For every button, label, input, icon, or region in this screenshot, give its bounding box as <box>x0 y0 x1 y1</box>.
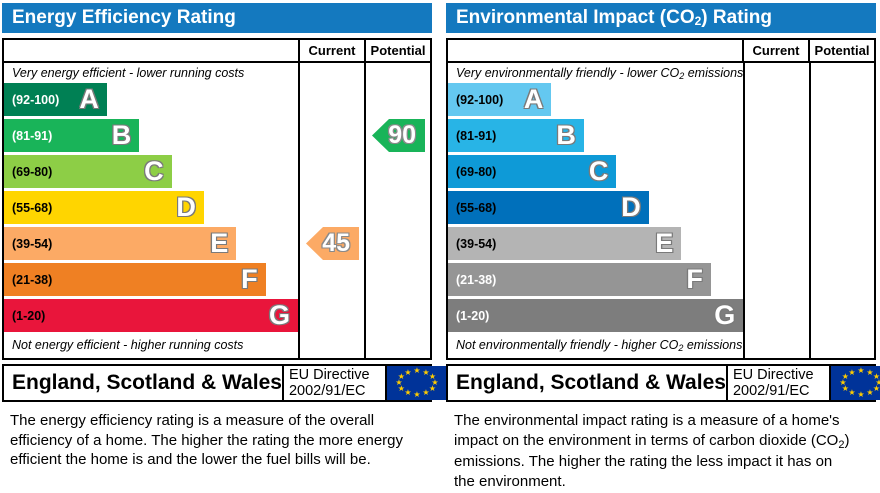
description-text: The energy efficiency rating is a measur… <box>10 412 403 468</box>
band-range-label: (1-20) <box>448 309 489 323</box>
band-letter-f: F <box>241 266 258 293</box>
eu-flag-star: ★ <box>404 369 411 377</box>
band-letter-g: G <box>714 302 735 329</box>
table-body-row: Very environmentally friendly - lower CO… <box>448 63 874 358</box>
band-range-label: (55-68) <box>4 201 52 215</box>
band-a: (92-100)A <box>448 83 551 116</box>
band-range-label: (39-54) <box>448 237 496 251</box>
band-range-label: (21-38) <box>448 273 496 287</box>
table-body-row: Very energy efficient - lower running co… <box>4 63 430 358</box>
band-c: (69-80)C <box>4 155 172 188</box>
bottom-caption: Not energy efficient - higher running co… <box>4 335 298 355</box>
eu-flag-star: ★ <box>873 385 880 393</box>
eu-flag-star: ★ <box>413 367 420 375</box>
chart-title-bar: Energy Efficiency Rating <box>2 3 432 33</box>
certificate-footer: England, Scotland & WalesEU Directive200… <box>2 364 432 402</box>
chart-description: The environmental impact rating is a mea… <box>454 411 854 491</box>
band-letter-f: F <box>686 266 703 293</box>
band-letter-a: A <box>524 86 544 113</box>
table-header-row: CurrentPotential <box>448 40 874 63</box>
eu-flag-star: ★ <box>866 389 873 397</box>
chart-description: The energy efficiency rating is a measur… <box>10 411 410 470</box>
eu-flag-star: ★ <box>404 389 411 397</box>
eu-flag-star: ★ <box>848 389 855 397</box>
directive-line-1: EU Directive <box>289 367 385 383</box>
band-letter-e: E <box>655 230 673 257</box>
current-column: 45 <box>300 63 366 358</box>
band-range-label: (69-80) <box>448 165 496 179</box>
band-letter-e: E <box>210 230 228 257</box>
environmental-impact-chart: Environmental Impact (CO2) RatingCurrent… <box>444 0 878 493</box>
band-b: (81-91)B <box>448 119 584 152</box>
band-g: (1-20)G <box>4 299 298 332</box>
footer-country-label: England, Scotland & Wales <box>448 366 726 400</box>
chart-title-text: Energy Efficiency Rating <box>12 7 236 29</box>
band-range-label: (1-20) <box>4 309 45 323</box>
band-b: (81-91)B <box>4 119 139 152</box>
band-e: (39-54)E <box>4 227 236 260</box>
footer-directive: EU Directive2002/91/EC <box>282 366 385 400</box>
band-letter-a: A <box>79 86 99 113</box>
directive-line-1: EU Directive <box>733 367 829 383</box>
current-column <box>745 63 810 358</box>
band-letter-d: D <box>176 194 196 221</box>
current-rating-marker: 45 <box>306 227 359 260</box>
band-letter-d: D <box>621 194 641 221</box>
chart-title-text: Environmental Impact (CO <box>456 7 695 29</box>
rating-table: CurrentPotentialVery energy efficient - … <box>2 38 432 360</box>
header-blank-cell <box>4 40 300 61</box>
band-letter-b: B <box>112 122 132 149</box>
band-range-label: (92-100) <box>448 93 503 107</box>
band-g: (1-20)G <box>448 299 743 332</box>
header-blank-cell <box>448 40 744 61</box>
directive-line-2: 2002/91/EC <box>733 383 829 399</box>
band-d: (55-68)D <box>448 191 649 224</box>
footer-country-label: England, Scotland & Wales <box>4 366 282 400</box>
band-e: (39-54)E <box>448 227 681 260</box>
table-header-row: CurrentPotential <box>4 40 430 63</box>
chart-title-bar: Environmental Impact (CO2) Rating <box>446 3 876 33</box>
description-text: The environmental impact rating is a mea… <box>454 412 840 449</box>
chart-title-suffix: ) Rating <box>701 7 772 29</box>
eu-flag-star: ★ <box>429 385 436 393</box>
header-current-cell: Current <box>300 40 366 61</box>
band-c: (69-80)C <box>448 155 616 188</box>
bands-list: (92-100)A(81-91)B(69-80)C(55-68)D(39-54)… <box>448 83 743 332</box>
band-range-label: (92-100) <box>4 93 59 107</box>
band-letter-g: G <box>269 302 290 329</box>
certificate-footer: England, Scotland & WalesEU Directive200… <box>446 364 876 402</box>
directive-line-2: 2002/91/EC <box>289 383 385 399</box>
footer-directive: EU Directive2002/91/EC <box>726 366 829 400</box>
potential-rating-marker: 90 <box>372 119 425 152</box>
header-current-cell: Current <box>744 40 810 61</box>
eu-flag-star: ★ <box>413 391 420 399</box>
band-range-label: (69-80) <box>4 165 52 179</box>
band-range-label: (81-91) <box>448 129 496 143</box>
chart-title-subscript: 2 <box>695 14 702 28</box>
band-range-label: (81-91) <box>4 129 52 143</box>
band-range-label: (21-38) <box>4 273 52 287</box>
eu-flag-icon: ★★★★★★★★★★★★ <box>829 366 880 400</box>
top-caption: Very energy efficient - lower running co… <box>4 63 298 83</box>
top-caption: Very environmentally friendly - lower CO… <box>448 63 743 83</box>
potential-column: 90 <box>366 63 430 358</box>
eu-flag-star: ★ <box>848 369 855 377</box>
band-range-label: (55-68) <box>448 201 496 215</box>
eu-flag-star: ★ <box>857 391 864 399</box>
band-range-label: (39-54) <box>4 237 52 251</box>
band-a: (92-100)A <box>4 83 107 116</box>
epc-certificate-charts: Energy Efficiency RatingCurrentPotential… <box>0 0 880 493</box>
eu-flag-star: ★ <box>857 367 864 375</box>
header-potential-cell: Potential <box>810 40 874 61</box>
band-d: (55-68)D <box>4 191 204 224</box>
band-f: (21-38)F <box>448 263 711 296</box>
energy-efficiency-chart: Energy Efficiency RatingCurrentPotential… <box>0 0 434 493</box>
band-letter-b: B <box>556 122 576 149</box>
eu-flag-star: ★ <box>422 389 429 397</box>
potential-column <box>811 63 874 358</box>
header-potential-cell: Potential <box>366 40 430 61</box>
bands-list: (92-100)A(81-91)B(69-80)C(55-68)D(39-54)… <box>4 83 298 332</box>
band-f: (21-38)F <box>4 263 266 296</box>
rating-table: CurrentPotentialVery environmentally fri… <box>446 38 876 360</box>
bands-column: Very energy efficient - lower running co… <box>4 63 300 358</box>
eu-flag-icon: ★★★★★★★★★★★★ <box>385 366 447 400</box>
band-letter-c: C <box>589 158 609 185</box>
band-letter-c: C <box>144 158 164 185</box>
bands-column: Very environmentally friendly - lower CO… <box>448 63 745 358</box>
description-subscript: 2 <box>838 439 844 451</box>
bottom-caption: Not environmentally friendly - higher CO… <box>448 335 743 355</box>
